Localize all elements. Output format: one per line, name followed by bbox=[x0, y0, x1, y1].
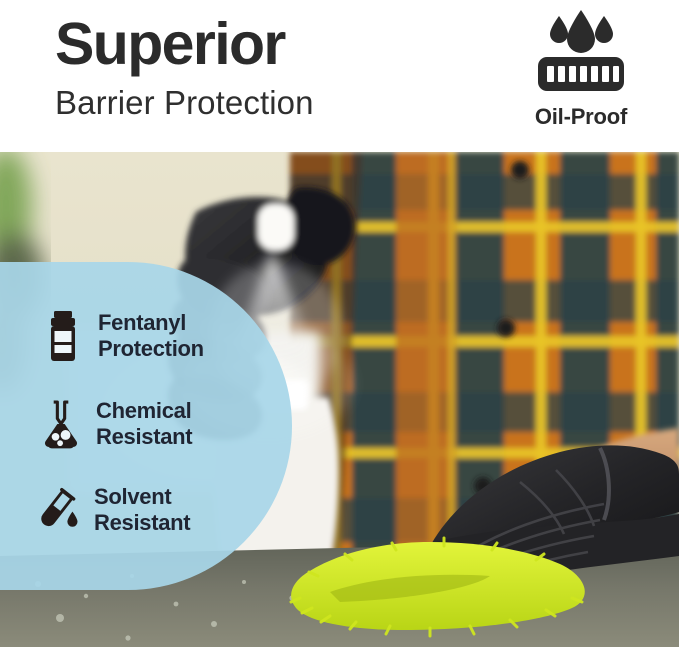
page-subtitle: Barrier Protection bbox=[55, 83, 314, 123]
product-feature-graphic: Superior Barrier Protection bbox=[0, 0, 679, 647]
page-title: Superior bbox=[55, 14, 314, 74]
oil-proof-badge: Oil-Proof bbox=[497, 8, 665, 130]
header-section: Superior Barrier Protection bbox=[0, 0, 679, 152]
feature-label: Fentanyl Protection bbox=[98, 310, 204, 362]
headline-block: Superior Barrier Protection bbox=[55, 14, 314, 123]
feature-solvent-resistant: Solvent Resistant bbox=[38, 484, 190, 536]
test-tube-icon bbox=[38, 484, 80, 536]
feature-fentanyl-protection: Fentanyl Protection bbox=[42, 310, 204, 362]
oil-proof-icon bbox=[497, 8, 665, 100]
features-list: Fentanyl Protection Chemical Resistant bbox=[0, 262, 292, 590]
feature-label: Chemical Resistant bbox=[96, 398, 192, 450]
feature-label: Solvent Resistant bbox=[94, 484, 190, 536]
feature-chemical-resistant: Chemical Resistant bbox=[40, 398, 192, 450]
flask-icon bbox=[40, 398, 82, 450]
oil-proof-label: Oil-Proof bbox=[497, 104, 665, 130]
vial-icon bbox=[42, 310, 84, 362]
